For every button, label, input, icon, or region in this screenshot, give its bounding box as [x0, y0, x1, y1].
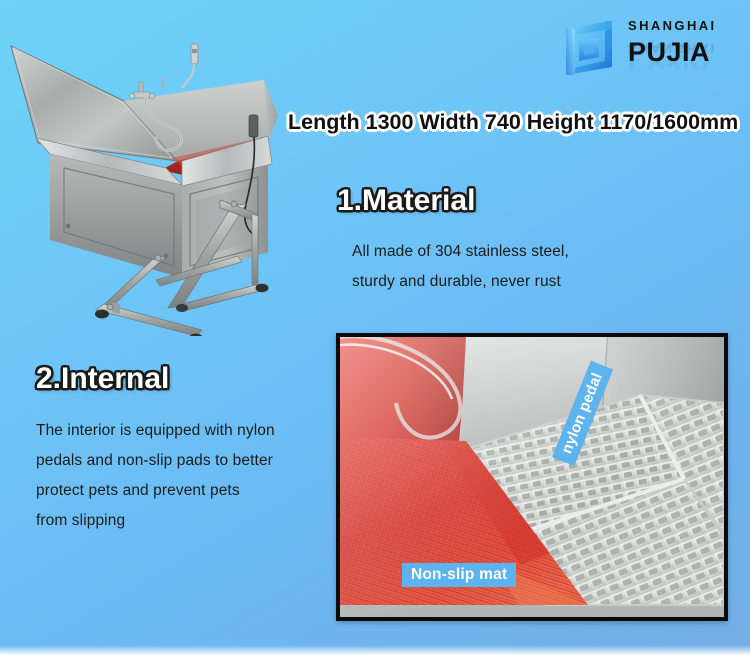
section-1-line-1: All made of 304 stainless steel,	[352, 237, 652, 267]
dimensions-headline: Length 1300 Width 740 Height 1170/1600mm	[288, 110, 748, 135]
tub-interior-illustration	[340, 337, 724, 617]
brand-reflection: PUJIA SHANGHAI	[628, 41, 746, 86]
detail-photo-interior: Non-slip mat nylon pedal	[336, 333, 728, 621]
section-1-heading: 1.Material	[337, 184, 475, 218]
brand-line-shanghai: SHANGHAI	[628, 18, 746, 33]
section-2-heading: 2.Internal	[36, 362, 169, 396]
section-1-line-2: sturdy and durable, never rust	[352, 267, 652, 297]
product-infographic: SHANGHAI PUJIA PUJIA SHANGHAI Length 130…	[0, 0, 750, 659]
brand-reflection-shanghai: SHANGHAI	[628, 41, 746, 56]
section-2-line-1: The interior is equipped with nylon	[36, 416, 336, 446]
section-1-body: All made of 304 stainless steel, sturdy …	[352, 237, 652, 297]
photo-label-non-slip-mat: Non-slip mat	[402, 563, 516, 587]
brand-reflection-pujia: PUJIA	[628, 56, 746, 86]
bottom-fade	[0, 645, 750, 659]
bathtub-illustration	[6, 18, 286, 336]
brand-wordmark: SHANGHAI PUJIA PUJIA SHANGHAI	[628, 18, 746, 86]
detail-photo-image	[340, 337, 724, 617]
brand-logo: SHANGHAI PUJIA PUJIA SHANGHAI	[558, 14, 743, 90]
section-2-line-2: pedals and non-slip pads to better	[36, 446, 336, 476]
section-2-body: The interior is equipped with nylon peda…	[36, 416, 336, 536]
section-2-line-3: protect pets and prevent pets	[36, 476, 336, 506]
pujia-logo-icon	[558, 18, 620, 80]
section-2-line-4: from slipping	[36, 506, 336, 536]
product-photo-bathtub	[6, 18, 286, 336]
